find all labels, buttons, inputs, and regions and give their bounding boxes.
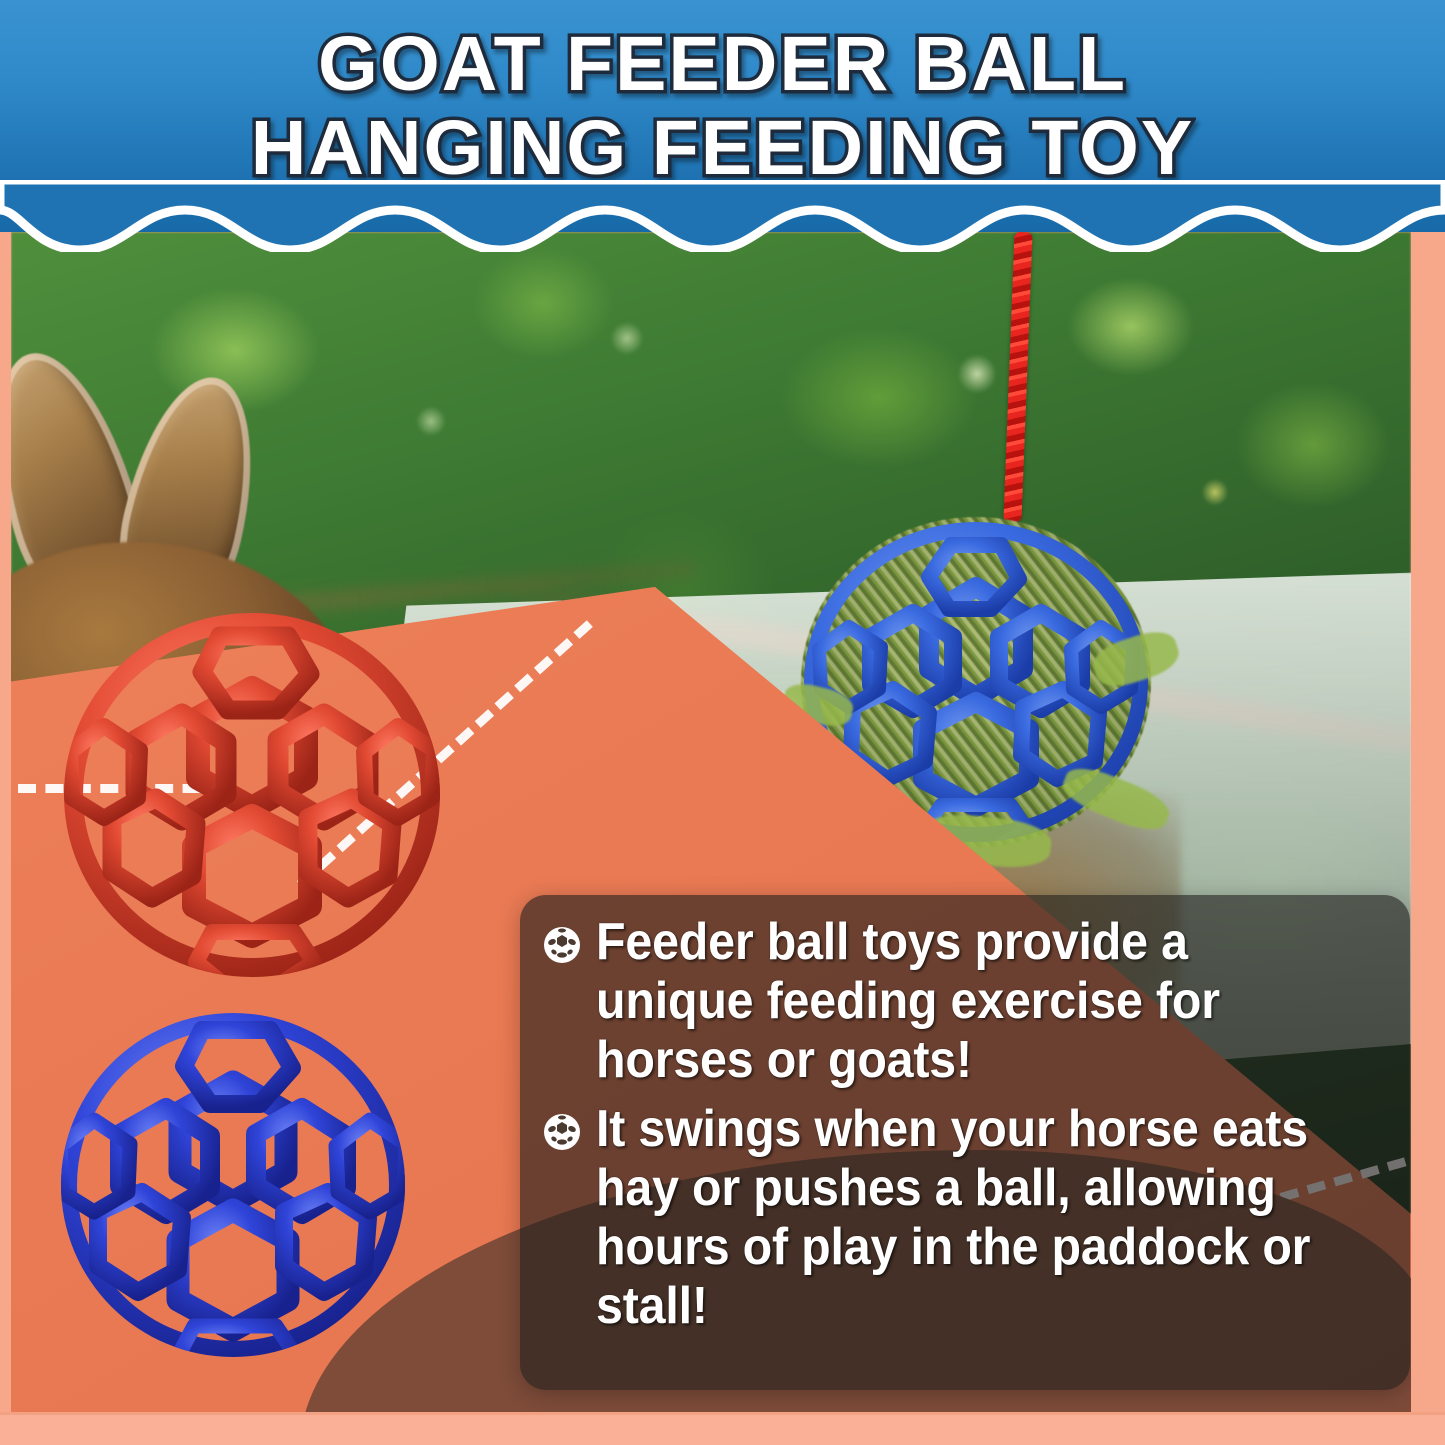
border-bottom (0, 1415, 1445, 1445)
border-right (1411, 232, 1445, 1445)
red-feeder-ball-swatch (62, 610, 442, 980)
page-title-line-2: HANGING FEEDING TOY (0, 106, 1445, 190)
page-title: GOAT FEEDER BALL HANGING FEEDING TOY (0, 22, 1445, 190)
border-left (0, 232, 11, 1445)
scalloped-edge (0, 180, 1445, 252)
feeder-ball-icon (542, 925, 582, 965)
list-item: It swings when your horse eats hay or pu… (542, 1100, 1384, 1336)
page-title-line-1: GOAT FEEDER BALL (0, 22, 1445, 106)
feeder-ball-icon (542, 1112, 582, 1152)
product-infographic: Feeder ball toys provide a unique feedin… (0, 0, 1445, 1445)
list-item-label: It swings when your horse eats hay or pu… (596, 1100, 1329, 1336)
list-item-label: Feeder ball toys provide a unique feedin… (596, 913, 1329, 1090)
list-item: Feeder ball toys provide a unique feedin… (542, 913, 1384, 1090)
border-bottom-divider (0, 1412, 1445, 1415)
blue-feeder-ball-swatch (58, 1010, 408, 1360)
features-list: Feeder ball toys provide a unique feedin… (520, 895, 1410, 1390)
